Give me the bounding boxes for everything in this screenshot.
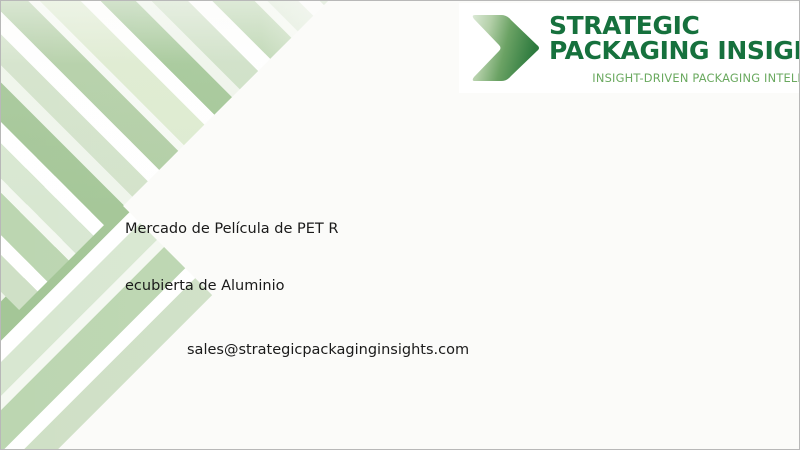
report-cover-slide: STRATEGIC PACKAGING INSIGHTS INSIGHT-DRI… (0, 0, 800, 450)
company-logo: STRATEGIC PACKAGING INSIGHTS INSIGHT-DRI… (459, 3, 799, 93)
chevron-arrow-mark-icon (471, 11, 543, 85)
report-title-line-1: Mercado de Película de PET R (125, 221, 338, 237)
report-title-line-2: ecubierta de Aluminio (125, 278, 285, 294)
logo-name-line-1: STRATEGIC (549, 13, 799, 38)
logo-wordmark: STRATEGIC PACKAGING INSIGHTS INSIGHT-DRI… (549, 11, 799, 85)
lower-chevron-arm (1, 1, 371, 310)
logo-name-line-2: PACKAGING INSIGHTS (549, 38, 799, 63)
contact-email: sales@strategicpackaginginsights.com (187, 342, 469, 358)
logo-tagline: INSIGHT-DRIVEN PACKAGING INTELLIGENCE (549, 72, 799, 85)
